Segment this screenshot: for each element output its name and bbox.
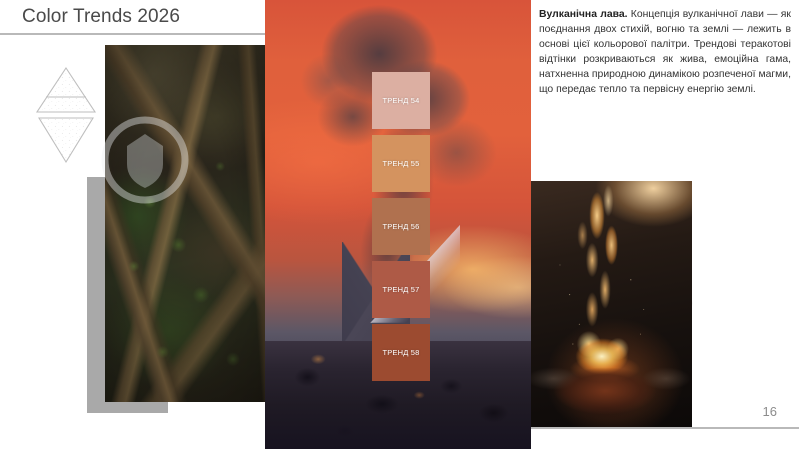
elemental-triangles-glyph (33, 62, 99, 168)
bottom-divider (531, 427, 799, 429)
color-swatch-stack: ТРЕНД 54 ТРЕНД 55 ТРЕНД 56 ТРЕНД 57 ТРЕН… (372, 72, 430, 387)
description-lead: Вулканічна лава. (539, 9, 628, 20)
description-text: Вулканічна лава. Концепція вулканічної л… (539, 7, 791, 98)
swatch-label: ТРЕНД 54 (382, 96, 419, 105)
swatch-label: ТРЕНД 57 (382, 285, 419, 294)
swatch-label: ТРЕНД 55 (382, 159, 419, 168)
swatch-trend-54[interactable]: ТРЕНД 54 (372, 72, 430, 129)
title-divider (0, 33, 265, 35)
description-body: Концепція вулканічної лави — як поєднанн… (539, 9, 791, 95)
swatch-label: ТРЕНД 58 (382, 348, 419, 357)
slide-canvas: ТРЕНД 54 ТРЕНД 55 ТРЕНД 56 ТРЕНД 57 ТРЕН… (0, 0, 799, 449)
swatch-label: ТРЕНД 56 (382, 222, 419, 231)
fire-flames-photo (531, 181, 692, 428)
page-title: Color Trends 2026 (22, 6, 180, 28)
swatch-trend-56[interactable]: ТРЕНД 56 (372, 198, 430, 255)
title-area: Color Trends 2026 (0, 0, 265, 34)
forest-vignette (105, 45, 265, 402)
page-number: 16 (763, 404, 777, 419)
forest-roots-photo (105, 45, 265, 402)
swatch-trend-58[interactable]: ТРЕНД 58 (372, 324, 430, 381)
swatch-trend-55[interactable]: ТРЕНД 55 (372, 135, 430, 192)
fire-sparks-layer (531, 181, 692, 428)
swatch-trend-57[interactable]: ТРЕНД 57 (372, 261, 430, 318)
